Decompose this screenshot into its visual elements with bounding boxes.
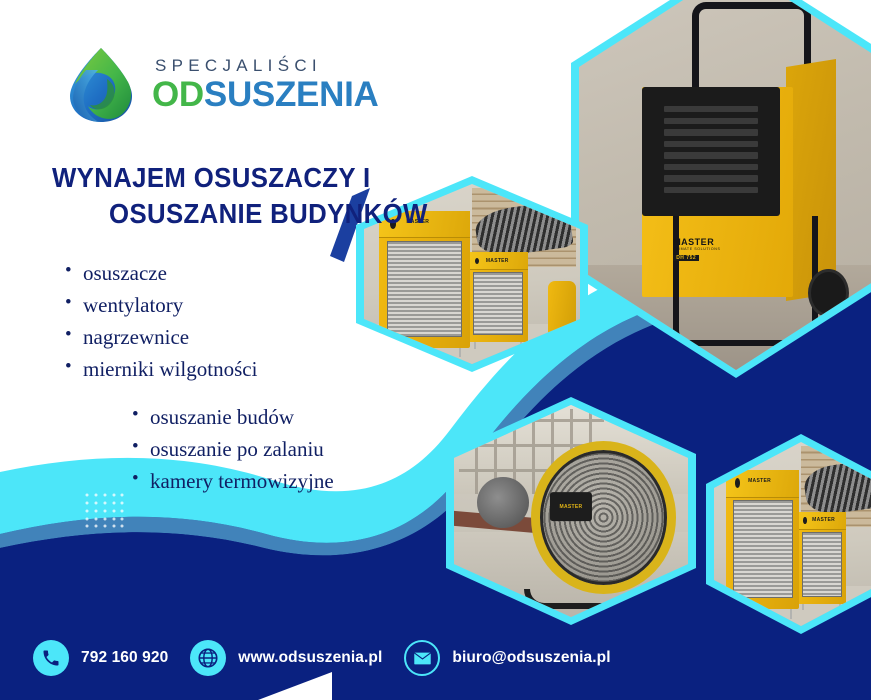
- dehumidifier-grille: [642, 87, 780, 216]
- page-title: WYNAJEM OSUSZACZY I OSUSZANIE BUDYNKÓW: [52, 160, 428, 232]
- cable-reel: [477, 477, 528, 528]
- brand-subtext: CLIMATE SOLUTIONS: [673, 247, 720, 251]
- contact-phone[interactable]: 792 160 920: [33, 640, 168, 676]
- brand-logo[interactable]: SPECJALIŚCI ODSUSZENIA: [60, 45, 420, 125]
- phone-icon: [33, 640, 69, 676]
- photo-frame: MASTER MASTER: [714, 442, 871, 626]
- brand-text: MASTER: [673, 237, 714, 247]
- email-address: biuro@odsuszenia.pl: [452, 649, 610, 667]
- heater-unit-front: MASTER: [726, 470, 799, 610]
- fan-hub-label: MASTER: [550, 492, 592, 522]
- website-url: www.odsuszenia.pl: [238, 649, 382, 667]
- list-item: osuszanie po zalaniu: [132, 434, 334, 466]
- services-primary-list: osuszacze wentylatory nagrzewnice mierni…: [65, 258, 257, 386]
- photo-frame: MASTER: [454, 405, 688, 617]
- services-secondary-list: osuszanie budów osuszanie po zalaniu kam…: [132, 402, 334, 498]
- fan-photo: MASTER: [454, 405, 688, 617]
- list-item: osuszanie budów: [132, 402, 334, 434]
- brand-text: MASTER: [748, 478, 771, 484]
- contact-email[interactable]: biuro@odsuszenia.pl: [404, 640, 610, 676]
- water-drop-icon: [60, 46, 142, 124]
- heater-unit-back: MASTER: [798, 512, 847, 604]
- globe-glyph: [197, 647, 219, 669]
- logo-company-name: ODSUSZENIA: [152, 77, 378, 114]
- globe-icon: [190, 640, 226, 676]
- product-brand-label: MASTER CLIMATE SOLUTIONS DH 752: [673, 237, 720, 261]
- list-item: osuszacze: [65, 258, 257, 290]
- logo-wordmark: SPECJALIŚCI ODSUSZENIA: [152, 57, 378, 114]
- envelope-glyph: [413, 651, 432, 666]
- list-item: nagrzewnice: [65, 322, 257, 354]
- dot-grid-pattern: [84, 492, 124, 528]
- contact-website[interactable]: www.odsuszenia.pl: [190, 640, 382, 676]
- list-item: wentylatory: [65, 290, 257, 322]
- list-item: mierniki wilgotności: [65, 354, 257, 386]
- brand-text: MASTER: [486, 258, 509, 264]
- heater-unit-back: MASTER: [468, 252, 528, 342]
- envelope-icon: [404, 640, 440, 676]
- phone-number: 792 160 920: [81, 649, 168, 667]
- heaters-photo-secondary: MASTER MASTER: [714, 442, 871, 626]
- logo-tagline: SPECJALIŚCI: [152, 57, 378, 74]
- logo-name-accent: OD: [152, 75, 204, 114]
- contact-footer: 792 160 920 www.odsuszenia.pl: [0, 616, 871, 700]
- list-item: kamery termowizyjne: [132, 466, 334, 498]
- logo-name-rest: SUSZENIA: [204, 75, 379, 114]
- phone-glyph: [41, 648, 61, 668]
- brand-text: MASTER: [812, 517, 835, 523]
- poster-canvas: SPECJALIŚCI ODSUSZENIA WYNAJEM OSUSZACZY…: [0, 0, 871, 700]
- headline-line-2: OSUSZANIE BUDYNKÓW: [52, 196, 428, 232]
- model-text: DH 752: [673, 255, 699, 261]
- headline-line-1: WYNAJEM OSUSZACZY I: [52, 160, 428, 196]
